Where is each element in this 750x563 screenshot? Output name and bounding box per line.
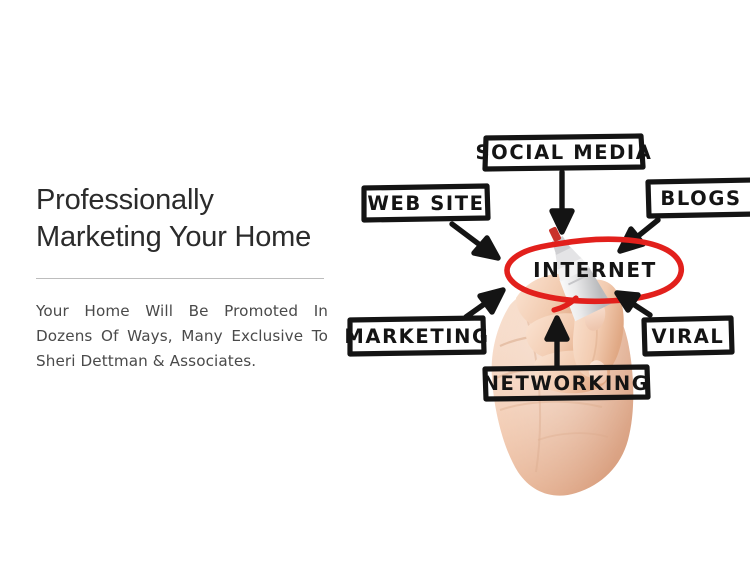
arrow-social-media-to-internet bbox=[552, 172, 572, 232]
node-networking-label: NETWORKING bbox=[483, 372, 650, 395]
node-viral-label: VIRAL bbox=[652, 325, 725, 348]
arrow-web-site-to-internet bbox=[452, 224, 498, 258]
divider bbox=[36, 278, 324, 279]
whiteboard-sketch: .boxline { fill:none; stroke:#141414; st… bbox=[340, 110, 750, 510]
node-blogs-label: BLOGS bbox=[660, 187, 741, 210]
text-panel: Professionally Marketing Your Home Your … bbox=[36, 182, 336, 389]
node-viral[interactable]: VIRAL bbox=[644, 318, 732, 354]
node-web-site[interactable]: WEB SITE bbox=[364, 186, 488, 220]
subtitle-text: Your Home Will Be Promoted In Dozens Of … bbox=[36, 299, 328, 374]
marketing-diagram: .boxline { fill:none; stroke:#141414; st… bbox=[340, 110, 750, 510]
node-marketing[interactable]: MARKETING bbox=[344, 318, 489, 354]
node-internet-center[interactable]: INTERNET bbox=[507, 239, 681, 301]
node-internet-label: INTERNET bbox=[533, 258, 657, 282]
node-marketing-label: MARKETING bbox=[344, 325, 489, 348]
page-title: Professionally Marketing Your Home bbox=[36, 182, 336, 256]
node-social-media-label: SOCIAL MEDIA bbox=[476, 141, 653, 164]
node-networking[interactable]: NETWORKING bbox=[483, 367, 650, 399]
node-blogs[interactable]: BLOGS bbox=[648, 180, 750, 216]
slide-canvas: Professionally Marketing Your Home Your … bbox=[0, 0, 750, 563]
arrow-marketing-to-internet bbox=[466, 290, 503, 317]
arrow-networking-to-internet bbox=[547, 318, 567, 367]
node-web-site-label: WEB SITE bbox=[367, 192, 484, 215]
node-social-media[interactable]: SOCIAL MEDIA bbox=[476, 136, 653, 169]
